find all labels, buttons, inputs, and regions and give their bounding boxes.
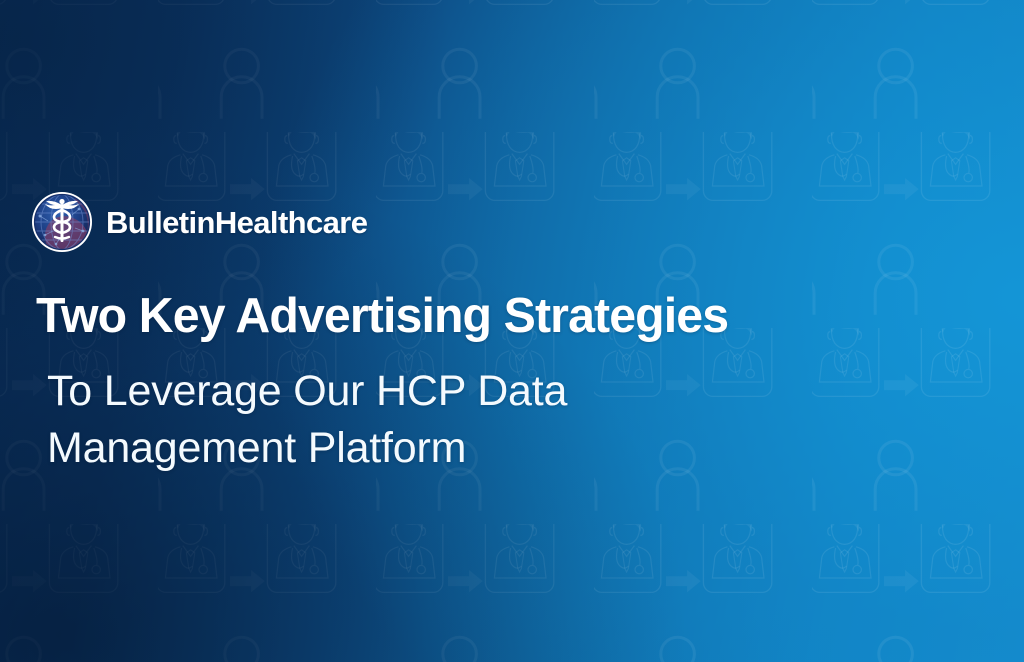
slide-content: BulletinHealthcare Two Key Advertising S… bbox=[0, 0, 1024, 662]
page-subtitle-line-2: Management Platform bbox=[47, 420, 567, 477]
brand-wordmark: BulletinHealthcare bbox=[106, 207, 367, 238]
caduceus-globe-icon bbox=[31, 191, 93, 253]
title-slide: BulletinHealthcare Two Key Advertising S… bbox=[0, 0, 1024, 662]
page-subtitle: To Leverage Our HCP Data Management Plat… bbox=[47, 363, 567, 477]
page-subtitle-line-1: To Leverage Our HCP Data bbox=[47, 363, 567, 420]
brand-lockup: BulletinHealthcare bbox=[31, 191, 367, 253]
page-title: Two Key Advertising Strategies bbox=[36, 292, 728, 341]
